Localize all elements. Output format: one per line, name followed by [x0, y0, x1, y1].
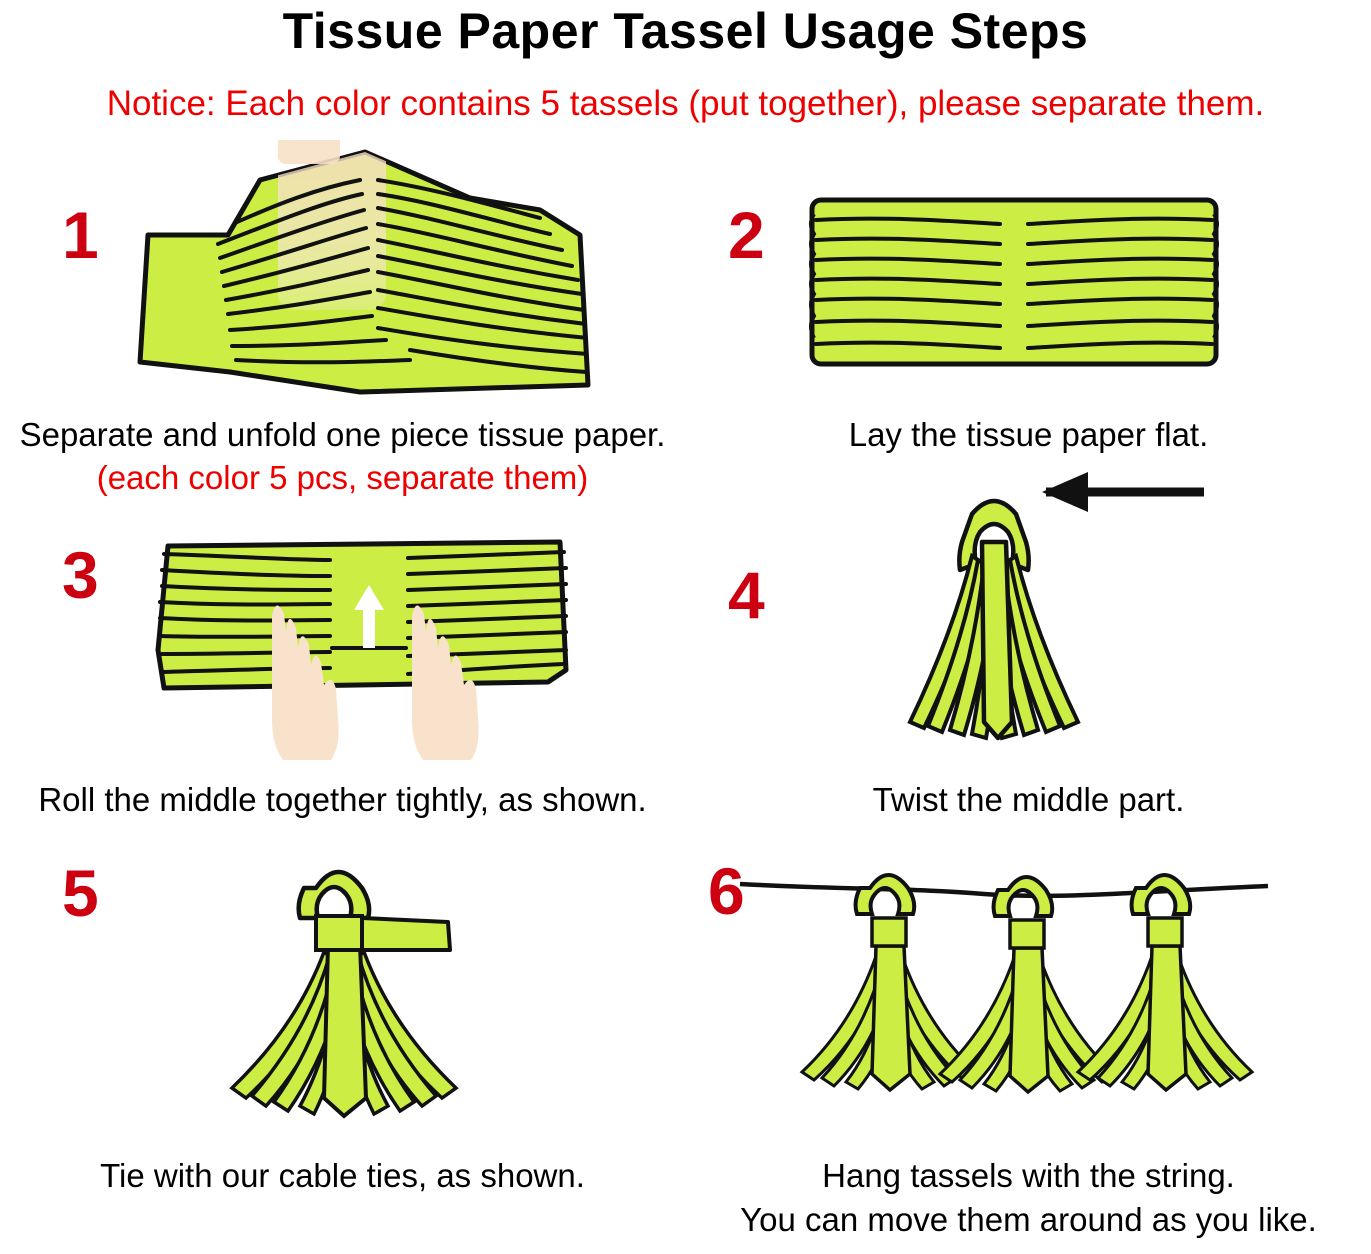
notice-text: Notice: Each color contains 5 tassels (p…	[0, 84, 1371, 124]
step-6-caption: Hang tassels with the string.	[686, 1156, 1371, 1196]
hanging-tassel-1	[802, 875, 976, 1090]
steps-grid: 1	[0, 140, 1371, 1254]
step-6: 6	[686, 840, 1371, 1254]
step-2-caption: Lay the tissue paper flat.	[686, 415, 1371, 455]
step-1: 1	[0, 140, 685, 530]
step-3-illustration	[150, 530, 580, 765]
tassel-with-cable-tie-svg	[200, 840, 500, 1130]
step-4-illustration	[854, 472, 1134, 767]
step-3-caption: Roll the middle together tightly, as sho…	[0, 780, 685, 820]
step-2-number: 2	[728, 202, 765, 268]
step-4-caption: Twist the middle part.	[686, 780, 1371, 820]
step-5-caption: Tie with our cable ties, as shown.	[0, 1156, 685, 1196]
hanging-tassel-2	[940, 877, 1114, 1092]
step-6-illustration	[734, 860, 1274, 1115]
step-6-subcaption: You can move them around as you like.	[686, 1200, 1371, 1240]
step-3: 3	[0, 520, 685, 880]
step-1-caption: Separate and unfold one piece tissue pap…	[0, 415, 685, 455]
page-title: Tissue Paper Tassel Usage Steps	[0, 2, 1371, 60]
step-6-number: 6	[708, 858, 745, 924]
step-4-number: 4	[728, 562, 765, 628]
folded-tassel-svg	[854, 472, 1134, 762]
flat-fringed-tissue-paper-svg	[804, 192, 1224, 372]
step-1-number: 1	[62, 202, 99, 268]
hand-holding-fringed-tissue-paper-svg	[110, 140, 630, 405]
step-3-number: 3	[62, 542, 99, 608]
step-1-subcaption: (each color 5 pcs, separate them)	[0, 458, 685, 498]
step-4: 4	[686, 520, 1371, 880]
step-5-number: 5	[62, 860, 99, 926]
step-5-illustration	[200, 840, 500, 1135]
instruction-sheet: Tissue Paper Tassel Usage Steps Notice: …	[0, 0, 1371, 1254]
cable-tie-tail	[362, 918, 450, 950]
step-1-illustration	[110, 140, 630, 410]
three-tassels-on-string-svg	[734, 860, 1274, 1110]
hanging-tassel-3	[1078, 875, 1252, 1090]
hands-rolling-middle-svg	[150, 530, 580, 760]
step-5: 5	[0, 840, 685, 1254]
step-2-illustration	[804, 192, 1224, 377]
